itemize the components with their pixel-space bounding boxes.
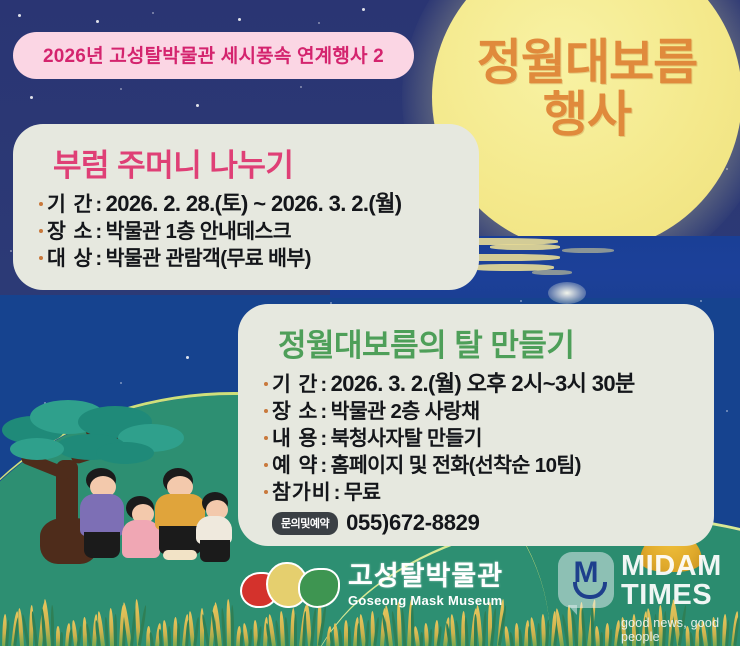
info-line: 기 간:2026. 3. 2.(월) 오후 2시~3시 30분 [264,369,696,398]
info-line-label: 장 소 [272,398,318,425]
info-line-value: 북청사자탈 만들기 [331,425,482,452]
grass-blade-icon [257,626,263,646]
bullet-dot-icon [264,436,268,440]
grass-blade-icon [248,629,252,646]
grass-blade-icon [348,626,352,646]
info-line-value: 홈페이지 및 전화(선착순 10팀) [331,452,581,479]
star-icon [300,86,302,88]
bullet-dot-icon [39,256,43,260]
star-icon [520,300,522,302]
info-line: 장 소:박물관 2층 사랑채 [264,398,696,425]
star-icon [318,22,320,24]
grass-blade-icon [114,614,117,646]
poster-canvas: 2026년 고성탈박물관 세시풍속 연계행사 2 정월대보름 행사 부럼 주머니… [0,0,740,646]
info-line: 내 용:북청사자탈 만들기 [264,425,696,452]
info-line-separator: : [93,191,105,218]
info-line-label: 장 소 [47,218,93,245]
info-line: 기 간:2026. 2. 28.(토) ~ 2026. 3. 2.(월) [39,189,461,218]
inquiry-phone-row: 문의및예약 055)672-8829 [272,510,696,536]
grass-blade-icon [518,629,522,646]
info-line-separator: : [93,218,105,245]
grass-blade-icon [51,605,55,646]
info-line-label: 내 용 [272,425,318,452]
star-icon [96,20,99,23]
page-title-line-2: 행사 [432,90,740,142]
grass-blade-icon [104,617,109,646]
info-line-value: 박물관 관람객(무료 배부) [106,245,311,272]
museum-name-english: Goseong Mask Museum [348,593,503,608]
info-line-label: 예 약 [272,452,318,479]
program-card-mask: 정월대보름의 탈 만들기 기 간:2026. 3. 2.(월) 오후 2시~3시… [238,304,714,546]
grass-blade-icon [365,620,370,646]
midam-bubble-tail-icon [568,605,577,615]
star-icon [362,8,365,11]
grass-blade-icon [310,608,317,646]
star-icon [726,410,728,412]
star-icon [120,382,122,384]
star-icon [120,88,122,90]
program-card-burum: 부럼 주머니 나누기 기 간:2026. 2. 28.(토) ~ 2026. 3… [13,124,479,290]
info-line-separator: : [318,452,330,479]
bullet-dot-icon [264,463,268,467]
grass-blade-icon [464,617,469,646]
museum-logo-text: 고성탈박물관 Goseong Mask Museum [348,563,503,608]
info-line-separator: : [332,479,344,506]
grass-blade-icon [537,623,540,646]
grass-blade-icon [509,632,514,646]
logo-blob-green-icon [298,568,340,608]
info-line: 예 약:홈페이지 및 전화(선착순 10팀) [264,452,696,479]
info-line-label: 참가비 [272,479,332,506]
grass-blade-icon [231,605,235,646]
info-line: 대 상:박물관 관람객(무료 배부) [39,245,461,272]
museum-name-korean: 고성탈박물관 [348,563,503,590]
info-line-value: 무료 [344,479,381,506]
grass-blade-icon [149,632,154,646]
moon-reflection [548,282,586,304]
info-line-separator: : [93,245,105,272]
info-line-value: 박물관 2층 사랑채 [331,398,480,425]
info-line-separator: : [318,371,330,398]
bullet-dot-icon [39,229,43,233]
star-icon [30,96,33,99]
info-line-label: 기 간 [272,371,318,398]
page-title-line-1: 정월대보름 [432,38,740,90]
inquiry-phone-number: 055)672-8829 [346,510,479,536]
midam-tagline: good news, good people [621,616,740,644]
grass-blade-icon [60,632,63,646]
program-card-mask-heading: 정월대보름의 탈 만들기 [278,320,696,365]
bullet-dot-icon [39,202,43,206]
bullet-dot-icon [264,382,268,386]
info-line-value: 2026. 3. 2.(월) 오후 2시~3시 30분 [331,369,635,398]
program-card-burum-heading: 부럼 주머니 나누기 [53,140,461,185]
midam-times-watermark: M MIDAM TIMES good news, good people [558,552,740,644]
grass-blade-icon [338,629,342,646]
midam-speech-bubble-icon: M [558,552,614,608]
grass-blade-icon [284,617,289,646]
grass-blade-icon [428,629,432,646]
star-icon [700,300,702,302]
star-icon [196,104,199,107]
event-series-banner: 2026년 고성탈박물관 세시풍속 연계행사 2 [13,32,414,79]
museum-logo-mark-icon [240,560,340,610]
info-line: 장 소:박물관 1층 안내데스크 [39,218,461,245]
info-line-value: 2026. 2. 28.(토) ~ 2026. 3. 2.(월) [106,189,402,218]
program-card-burum-lines: 기 간:2026. 2. 28.(토) ~ 2026. 3. 2.(월)장 소:… [39,189,461,272]
info-line-value: 박물관 1층 안내데스크 [106,218,291,245]
grass-blade-icon [77,626,83,646]
midam-name-line-2: TIMES [621,581,740,610]
info-line-separator: : [318,425,330,452]
grass-blade-icon [168,626,172,646]
grass-blade-icon [193,617,200,646]
grass-blade-icon [420,632,423,646]
info-line-label: 기 간 [47,191,93,218]
program-card-mask-lines: 기 간:2026. 3. 2.(월) 오후 2시~3시 30분장 소:박물관 2… [264,369,696,506]
info-line-separator: : [318,398,330,425]
star-icon [186,356,189,359]
grass-blade-icon [221,608,227,646]
grass-blade-icon [482,611,487,646]
star-icon [18,14,21,17]
star-icon [238,18,241,21]
page-title: 정월대보름 행사 [432,38,740,142]
midam-wordmark: MIDAM TIMES good news, good people [621,552,740,644]
museum-logo: 고성탈박물관 Goseong Mask Museum [240,560,503,610]
midam-name-line-1: MIDAM [621,552,740,581]
bullet-dot-icon [264,490,268,494]
midam-smile-icon [573,582,607,599]
star-icon [10,250,12,252]
grass-blade-icon [545,620,550,646]
figure-boy [196,492,242,562]
star-icon [152,12,154,14]
info-line: 참가비:무료 [264,479,696,506]
grass-blade-icon [177,623,180,646]
grass-blade-icon [294,614,297,646]
inquiry-badge: 문의및예약 [272,512,338,535]
info-line-label: 대 상 [47,245,93,272]
bullet-dot-icon [264,409,268,413]
